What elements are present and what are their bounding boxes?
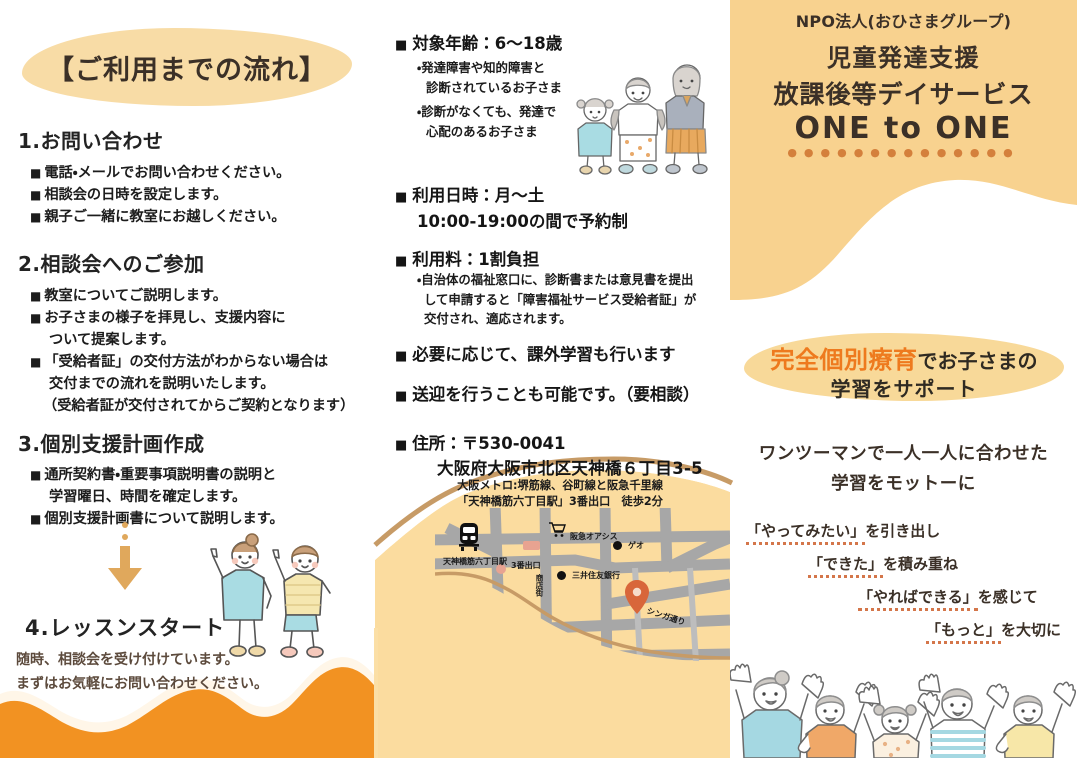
address-access-1: 大阪メトロ:堺筋線、谷町線と阪急千里線	[410, 478, 710, 494]
flow-banner-title: 【ご利用までの流れ】	[47, 48, 327, 87]
quote-item-1: 「やってみたい」を引き出し	[746, 520, 940, 541]
info-hours-line2: 10:00-19:00の間で予約制	[417, 208, 628, 232]
service-title-2: 放課後等デイサービス	[730, 75, 1077, 111]
bullet-cont: （受給者証が交付されてからご契約となります）	[30, 395, 354, 417]
info-heading-fee: ■利用料：1割負担	[395, 246, 539, 270]
brand-name: ONE to ONE	[730, 111, 1077, 146]
flow-banner: 【ご利用までの流れ】	[22, 28, 352, 106]
left-note-line1: 随時、相談会を受け付けています。	[16, 648, 268, 672]
map-dot-geo	[613, 541, 622, 550]
bullet-cont: 学習曜日、時間を確定します。	[30, 486, 284, 508]
info-heading-address: ■住所：〒530-0041	[395, 430, 566, 454]
shopping-cart-icon	[548, 521, 566, 538]
map-label-exit: 3番出口	[511, 560, 541, 571]
motto-line-2: 学習をモットーに	[730, 470, 1077, 495]
bullet-item: ■電話・メールでお問い合わせください。	[30, 162, 290, 184]
support-banner-highlight: 完全個別療育	[771, 346, 918, 374]
quote-item-2: 「できた」を積み重ね	[808, 553, 958, 574]
bullet-cont: ついて提案します。	[30, 329, 354, 351]
bullet-item: ■通所契約書・重要事項説明書の説明と	[30, 464, 284, 486]
pamphlet-page: 【ご利用までの流れ】 1.お問い合わせ ■電話・メールでお問い合わせください。 …	[0, 0, 1077, 758]
step-bullets-3: ■通所契約書・重要事項説明書の説明と 学習曜日、時間を確定します。 ■個別支援計…	[30, 464, 284, 530]
step-heading-4: 4.レッスンスタート	[25, 612, 225, 642]
left-note: 随時、相談会を受け付けています。 まずはお気軽にお問い合わせください。	[16, 648, 268, 696]
right-column: NPO法人(おひさまグループ) 児童発達支援 放課後等デイサービス ONE to…	[730, 0, 1077, 758]
info-heading-hours: ■利用日時：月〜土	[395, 182, 544, 206]
bullet-item: ■お子さまの様子を拝見し、支援内容に	[30, 307, 354, 329]
map-label-bank: 三井住友銀行	[572, 570, 620, 581]
service-title-1: 児童発達支援	[730, 38, 1077, 73]
support-banner-rest: でお子さまの	[918, 349, 1038, 373]
info-heading-age: ■対象年齢：6〜18歳	[395, 30, 562, 54]
motto-line-1: ワンツーマンで一人一人に合わせた	[730, 440, 1077, 465]
info-note-age-1: ・発達障害や知的障害と 診断されているお子さま	[417, 58, 562, 97]
three-children-illustration	[570, 62, 720, 177]
brand-underline-dots: ●●●●●●●●●●●●●●	[730, 146, 1077, 159]
map-label-shopping-street: 商店街	[534, 574, 545, 597]
info-note-fee: ・自治体の福祉窓口に、診断書または意見書を提出 して申請すると「障害福祉サービス…	[417, 270, 696, 329]
info-note-age-2: ・診断がなくても、発達で 心配のあるお子さま	[417, 102, 556, 141]
cheering-people-illustration	[730, 648, 1077, 758]
info-heading-extracurricular: ■必要に応じて、課外学習も行います	[395, 341, 675, 365]
bullet-item: ■個別支援計画書について説明します。	[30, 508, 284, 530]
middle-column: ■対象年齢：6〜18歳 ・発達障害や知的障害と 診断されているお子さま ・診断が…	[375, 0, 730, 758]
step-heading-3: 3.個別支援計画作成	[18, 428, 205, 457]
down-arrow-icon	[100, 522, 150, 594]
step-heading-2: 2.相談会へのご参加	[18, 248, 205, 277]
org-name: NPO法人(おひさまグループ)	[730, 8, 1077, 32]
traffic-signal-marker	[523, 541, 540, 550]
bullet-item: ■「受給者証」の交付方法がわからない場合は	[30, 351, 354, 373]
map-label-station: 天神橋筋六丁目駅	[443, 556, 507, 567]
support-banner-line2: 学習をサポート	[744, 373, 1064, 402]
step-bullets-1: ■電話・メールでお問い合わせください。 ■相談会の日時を設定します。 ■親子ご一…	[30, 162, 290, 228]
location-map[interactable]: 天神橋筋六丁目駅 3番出口 阪急オアシス ゲオ 三井住友銀行 シンガ通り 商店街	[435, 508, 730, 678]
map-label-geo: ゲオ	[628, 540, 644, 551]
step-bullets-2: ■教室についてご説明します。 ■お子さまの様子を拝見し、支援内容に ついて提案し…	[30, 285, 354, 417]
bullet-item: ■相談会の日時を設定します。	[30, 184, 290, 206]
info-heading-transport: ■送迎を行うことも可能です。（要相談）	[395, 381, 699, 405]
left-column: 【ご利用までの流れ】 1.お問い合わせ ■電話・メールでお問い合わせください。 …	[0, 0, 375, 758]
step-heading-1: 1.お問い合わせ	[18, 125, 164, 154]
address-main: 大阪府大阪市北区天神橋６丁目3-5	[437, 455, 703, 479]
bullet-item: ■親子ご一緒に教室にお越しください。	[30, 206, 290, 228]
train-icon	[457, 522, 481, 552]
support-banner-line1: 完全個別療育でお子さまの	[744, 340, 1064, 375]
quote-item-4: 「もっと」を大切に	[926, 619, 1061, 640]
bullet-cont: 交付までの流れを説明いたします。	[30, 373, 354, 395]
map-dot-bank	[557, 571, 566, 580]
location-pin-icon	[625, 580, 649, 614]
quote-item-3: 「やればできる」を感じて	[858, 586, 1038, 607]
left-note-line2: まずはお気軽にお問い合わせください。	[16, 672, 268, 696]
map-label-oasis: 阪急オアシス	[570, 531, 618, 542]
bullet-item: ■教室についてご説明します。	[30, 285, 354, 307]
